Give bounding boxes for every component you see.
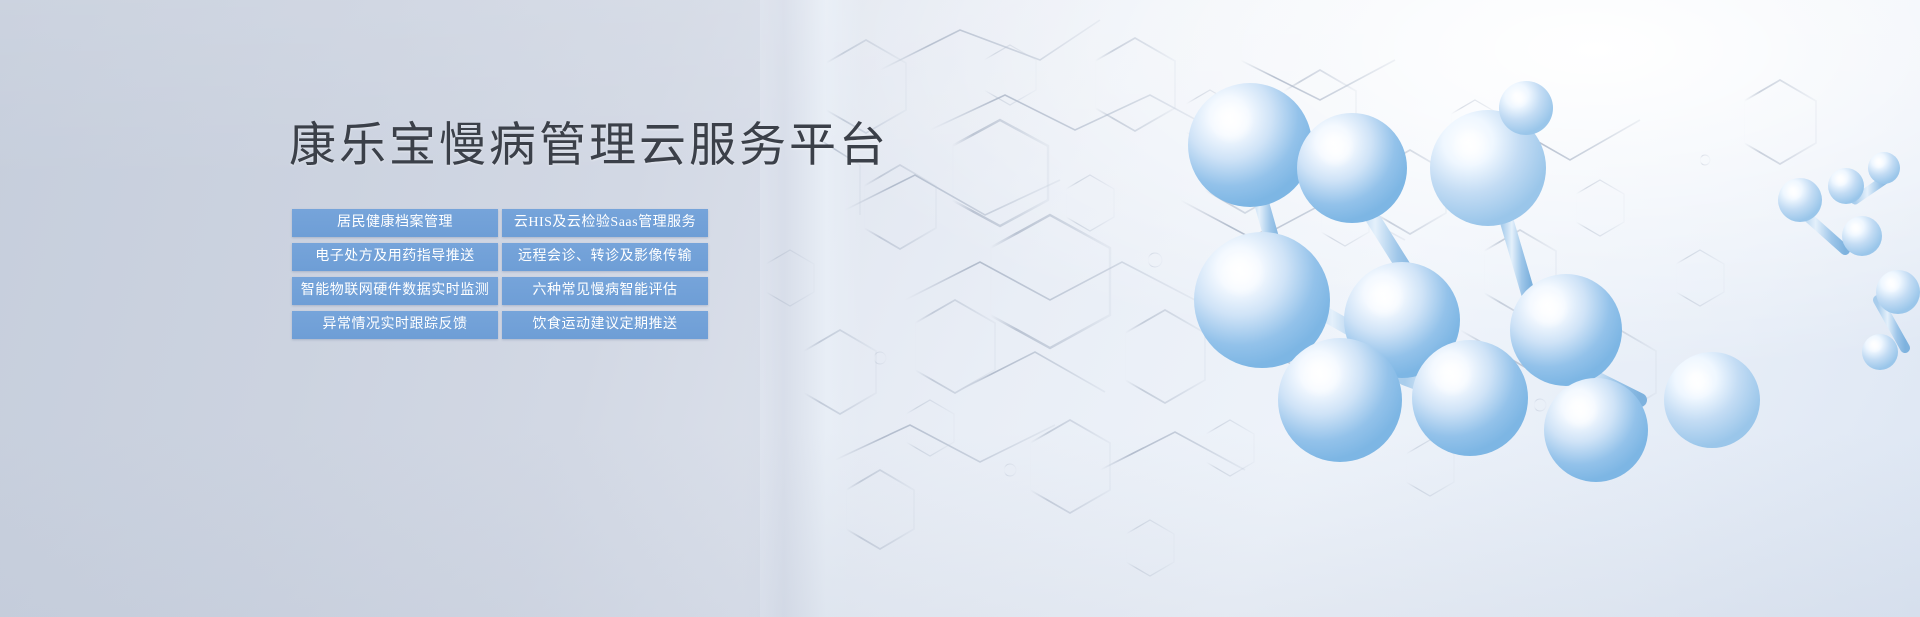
feature-tag[interactable]: 云HIS及云检验Saas管理服务 [502, 209, 708, 237]
feature-tag-grid: 居民健康档案管理 云HIS及云检验Saas管理服务 电子处方及用药指导推送 远程… [292, 209, 708, 339]
feature-tag[interactable]: 饮食运动建议定期推送 [502, 311, 708, 339]
page-title: 康乐宝慢病管理云服务平台 [289, 118, 889, 172]
background-vignette [0, 0, 1920, 617]
feature-tag[interactable]: 异常情况实时跟踪反馈 [292, 311, 498, 339]
feature-tag[interactable]: 智能物联网硬件数据实时监测 [292, 277, 498, 305]
hero-banner: 康乐宝慢病管理云服务平台 居民健康档案管理 云HIS及云检验Saas管理服务 电… [0, 0, 1920, 617]
feature-tag[interactable]: 电子处方及用药指导推送 [292, 243, 498, 271]
feature-tag[interactable]: 居民健康档案管理 [292, 209, 498, 237]
feature-tag[interactable]: 六种常见慢病智能评估 [502, 277, 708, 305]
feature-tag[interactable]: 远程会诊、转诊及影像传输 [502, 243, 708, 271]
